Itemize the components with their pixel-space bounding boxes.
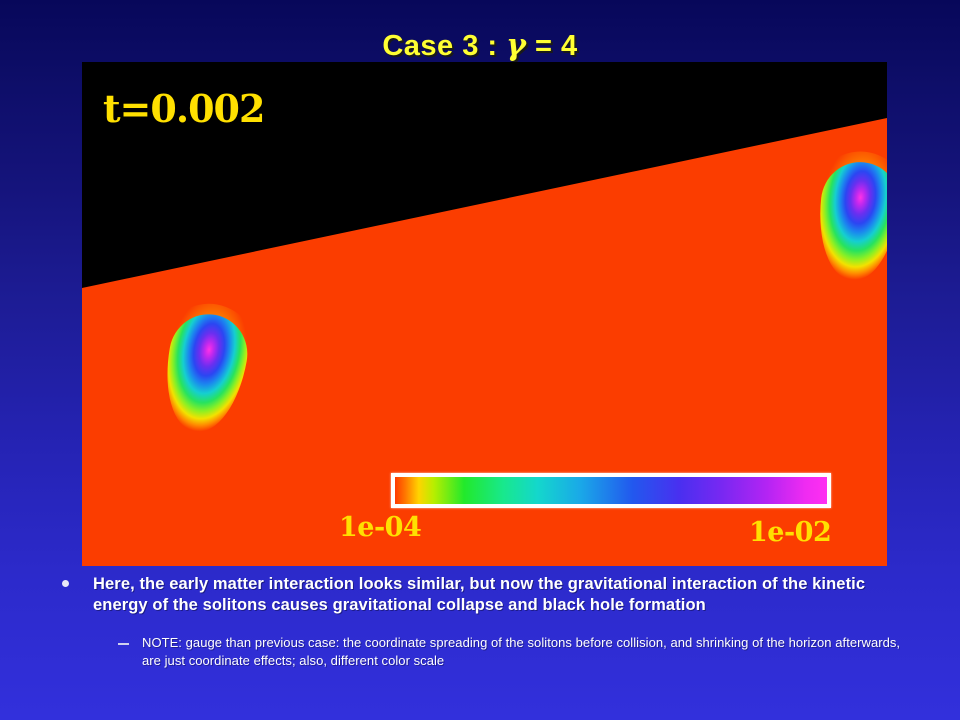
colorbar-min-label: 1e-04 [339,512,421,543]
bullet-item: Here, the early matter interaction looks… [0,574,960,616]
sub-bullet-text: NOTE: gauge than previous case: the coor… [142,634,916,669]
slide-title: Case 3 : γ = 4 [0,28,960,63]
colorbar [391,473,831,508]
slide-title-prefix: Case 3 : [382,30,506,62]
simulation-figure: t=0.002 1e-04 1e-02 [82,62,887,566]
time-label: t=0.002 [103,86,264,131]
gamma-symbol: γ [506,28,526,63]
colorbar-gradient [395,477,827,504]
bullet-text: Here, the early matter interaction looks… [93,574,920,616]
colorbar-max-label: 1e-02 [749,517,831,548]
slide-title-suffix: = 4 [526,30,577,62]
sub-bullet-item: NOTE: gauge than previous case: the coor… [0,634,960,669]
dash-marker-icon [118,643,129,645]
slide-body: Here, the early matter interaction looks… [0,574,960,669]
presentation-slide: Case 3 : γ = 4 t=0.002 1e-04 1e-02 Here,… [0,0,960,720]
bullet-dot-icon [62,580,69,587]
